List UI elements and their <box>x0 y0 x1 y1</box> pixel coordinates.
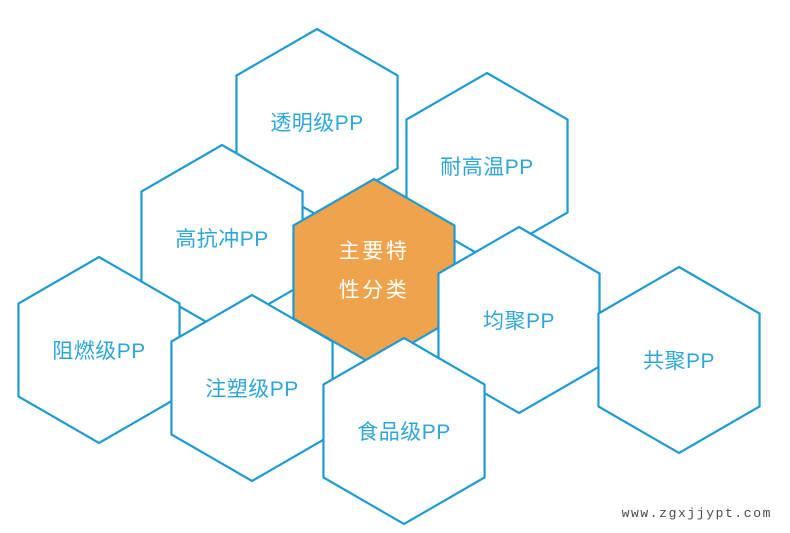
watermark-text: www.zgxjjypt.com <box>622 506 772 521</box>
diagram-canvas: 透明级PP耐高温PP高抗冲PP主要特性分类均聚PP阻燃级PP注塑级PP共聚PP食… <box>0 0 790 533</box>
honeycomb-svg <box>0 0 790 533</box>
hexagon-group <box>18 29 759 524</box>
hexagon-copolymer-pp[interactable] <box>598 267 759 453</box>
